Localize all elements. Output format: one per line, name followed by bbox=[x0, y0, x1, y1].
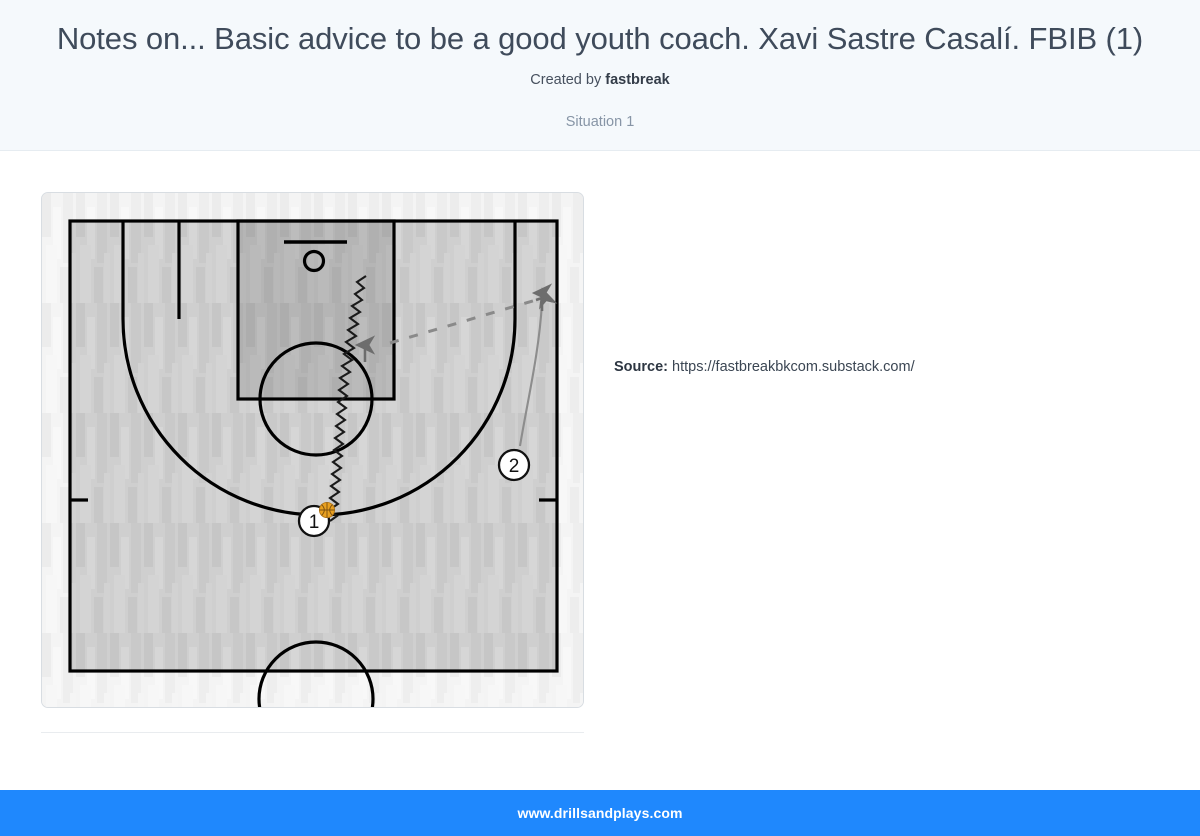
source-label: Source: bbox=[614, 359, 668, 375]
court-paint-key bbox=[238, 221, 394, 399]
basketball-court-svg: 1 2 bbox=[42, 193, 584, 708]
created-by-prefix: Created by bbox=[530, 72, 605, 88]
source-url[interactable]: https://fastbreakbkcom.substack.com/ bbox=[672, 359, 915, 375]
page-title: Notes on... Basic advice to be a good yo… bbox=[18, 20, 1182, 58]
court-diagram-wrap: 1 2 bbox=[41, 192, 584, 708]
situation-label: Situation 1 bbox=[18, 114, 1182, 130]
content-divider bbox=[41, 732, 584, 733]
court-diagram-card[interactable]: 1 2 bbox=[41, 192, 584, 708]
footer-website-label[interactable]: www.drillsandplays.com bbox=[517, 805, 682, 821]
player-1-label: 1 bbox=[309, 512, 320, 533]
page-header: Notes on... Basic advice to be a good yo… bbox=[0, 0, 1200, 151]
player-2-label: 2 bbox=[509, 456, 520, 477]
created-by-author: fastbreak bbox=[605, 72, 669, 88]
basketball-icon bbox=[319, 502, 334, 517]
page-footer: www.drillsandplays.com bbox=[0, 790, 1200, 836]
player-token-2[interactable]: 2 bbox=[499, 450, 529, 480]
source-line: Source: https://fastbreakbkcom.substack.… bbox=[614, 357, 915, 377]
created-by: Created by fastbreak bbox=[18, 72, 1182, 88]
page-root: Notes on... Basic advice to be a good yo… bbox=[0, 0, 1200, 836]
